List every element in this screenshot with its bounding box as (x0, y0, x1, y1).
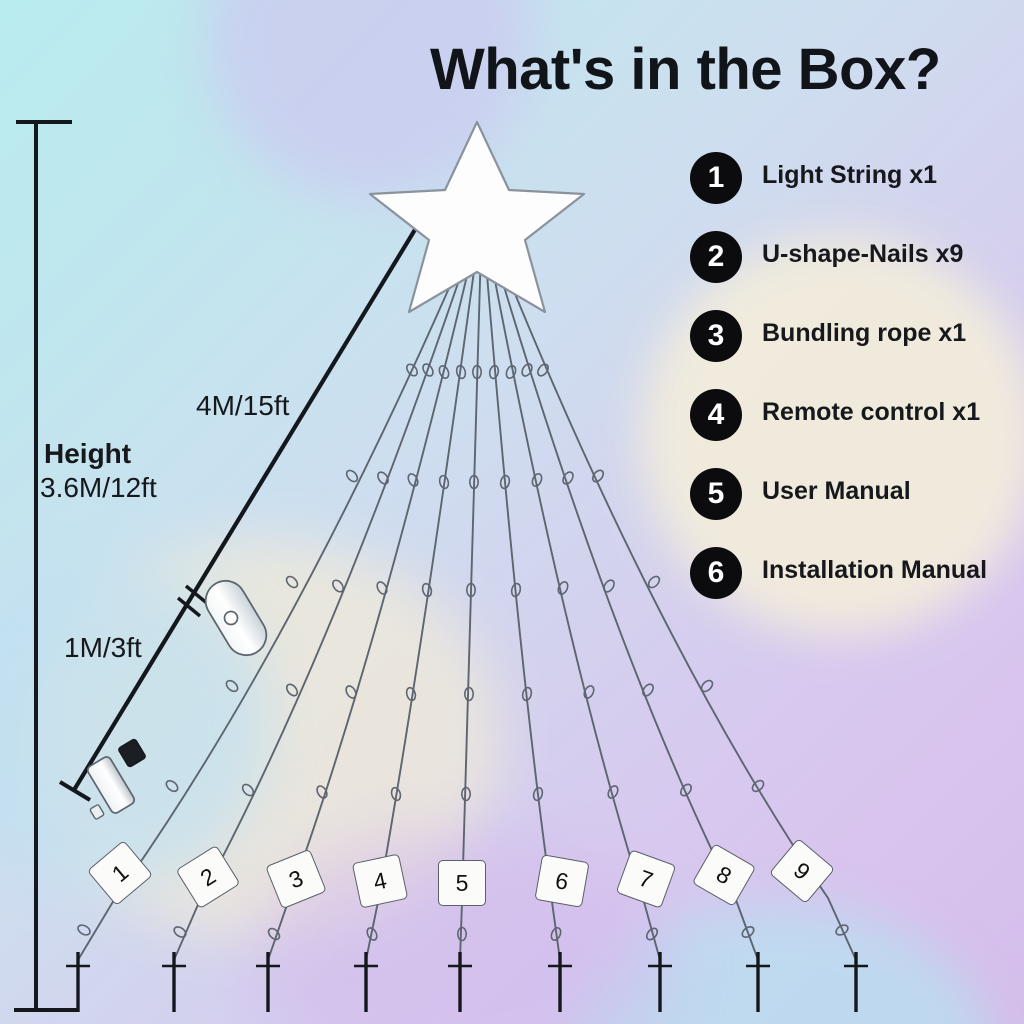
list-item: 3 Bundling rope x1 (690, 310, 1020, 389)
item-number-badge: 6 (690, 547, 742, 599)
ground-stake-icon (746, 952, 770, 1012)
led-strand (76, 212, 482, 960)
led-strand (482, 212, 660, 960)
item-label: User Manual (762, 477, 911, 506)
box-contents-list: 1 Light String x1 2 U-shape-Nails x9 3 B… (690, 152, 1020, 626)
slant-length-label: 4M/15ft (196, 390, 289, 422)
ground-stake-icon (256, 952, 280, 1012)
ground-stake-icon (66, 952, 90, 1012)
ground-stake-group (66, 952, 868, 1012)
led-strand (266, 212, 482, 960)
item-label: Bundling rope x1 (762, 319, 966, 348)
ground-stake-icon (648, 952, 672, 1012)
ground-stake-icon (548, 952, 572, 1012)
lead-length-label: 1M/3ft (64, 632, 142, 664)
led-strand (482, 212, 562, 960)
ground-stake-icon (448, 952, 472, 1012)
item-label: Remote control x1 (762, 398, 980, 427)
list-item: 1 Light String x1 (690, 152, 1020, 231)
power-plug-icon (86, 738, 146, 819)
strand-tag: 5 (438, 860, 486, 906)
item-number-badge: 4 (690, 389, 742, 441)
ground-stake-icon (844, 952, 868, 1012)
strand-tag: 6 (534, 854, 589, 908)
product-infographic: What's in the Box? 1 Light String x1 2 U… (0, 0, 1024, 1024)
height-label: Height (44, 438, 131, 470)
list-item: 6 Installation Manual (690, 547, 1020, 626)
height-value-label: 3.6M/12ft (40, 472, 157, 504)
controller-box-icon (198, 573, 273, 662)
list-item: 2 U-shape-Nails x9 (690, 231, 1020, 310)
item-number-badge: 1 (690, 152, 742, 204)
power-lead-group (60, 196, 442, 820)
item-label: Light String x1 (762, 161, 937, 190)
list-item: 4 Remote control x1 (690, 389, 1020, 468)
item-number-badge: 3 (690, 310, 742, 362)
item-number-badge: 5 (690, 468, 742, 520)
led-strand (458, 212, 482, 960)
page-title: What's in the Box? (430, 36, 941, 103)
height-ruler-icon (14, 122, 78, 1010)
item-number-badge: 2 (690, 231, 742, 283)
item-label: U-shape-Nails x9 (762, 240, 963, 269)
list-item: 5 User Manual (690, 468, 1020, 547)
ground-stake-icon (354, 952, 378, 1012)
item-label: Installation Manual (762, 556, 987, 585)
star-topper-icon (370, 122, 584, 312)
strand-tag: 4 (352, 854, 409, 909)
ground-stake-icon (162, 952, 186, 1012)
